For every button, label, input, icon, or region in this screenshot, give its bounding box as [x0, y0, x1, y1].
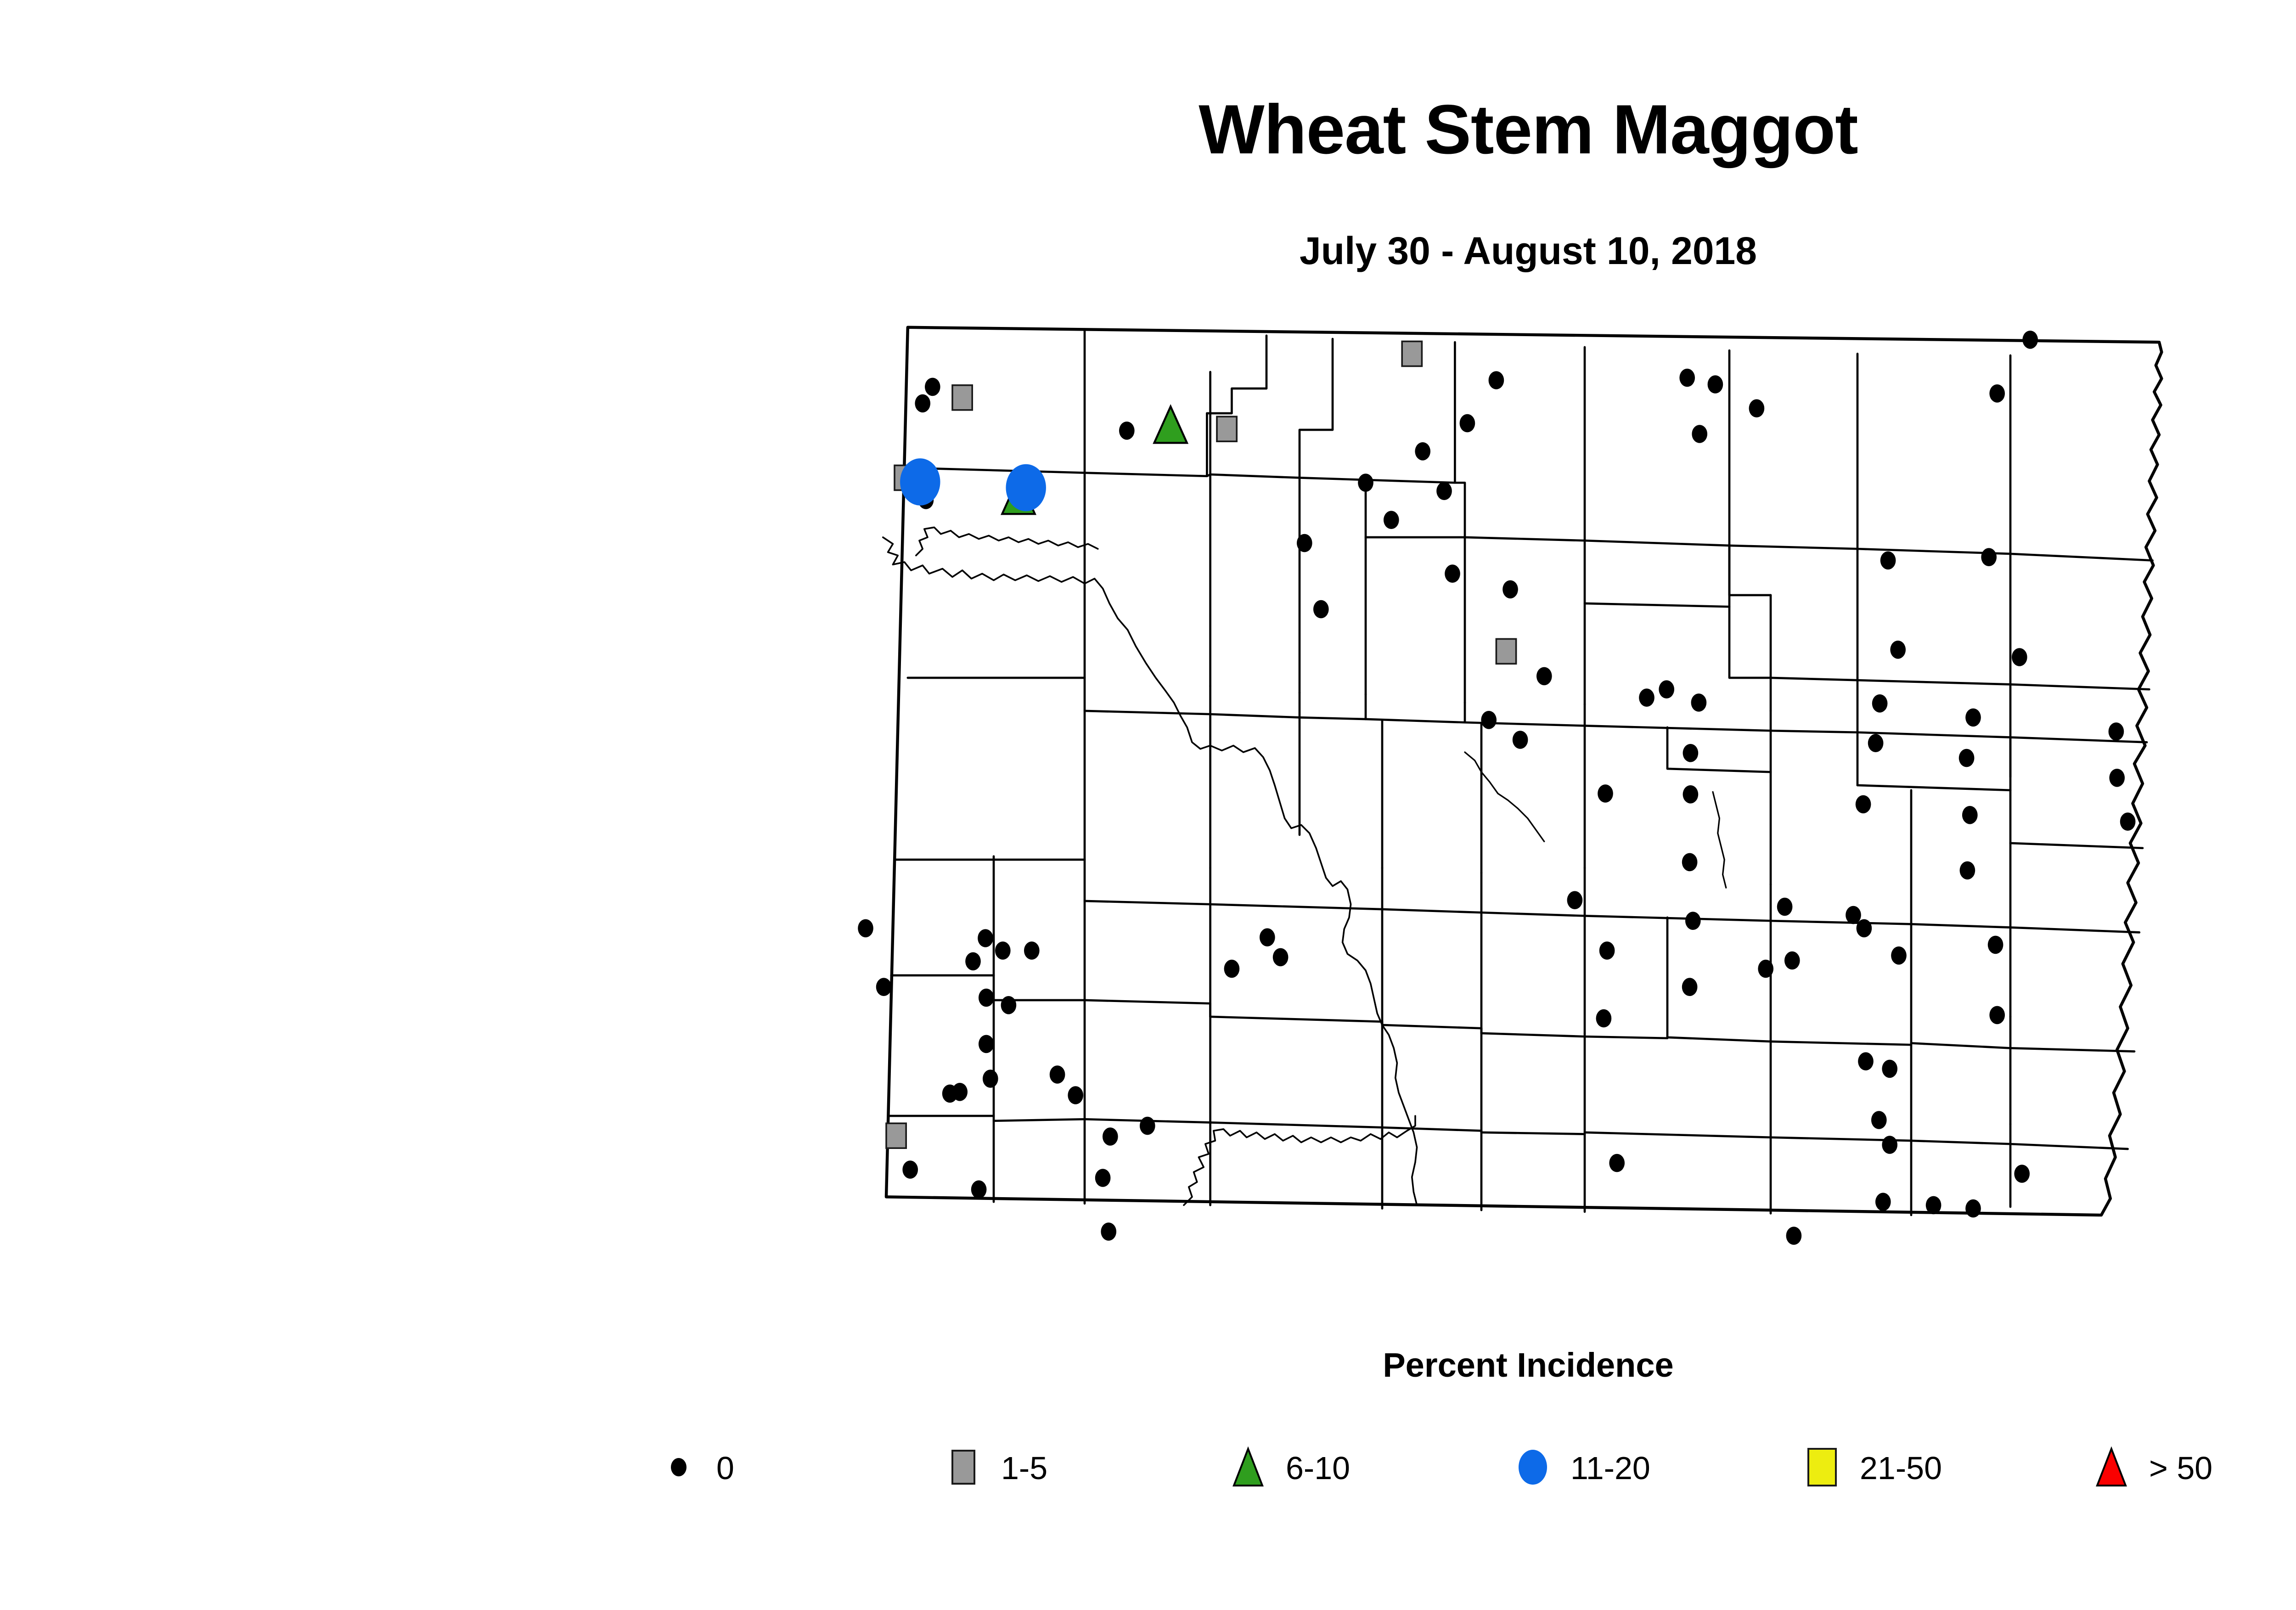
map-marker-0 [1683, 785, 1699, 804]
map-marker-0 [1103, 1127, 1118, 1146]
county-line [1382, 1127, 1481, 1131]
county-line [1585, 1033, 1667, 1038]
map-marker-0 [1598, 784, 1613, 803]
county-line [1771, 678, 1857, 732]
map-marker-0 [1858, 1052, 1874, 1070]
county-line [1667, 1037, 1771, 1041]
map-page: Wheat Stem Maggot July 30 - August 10, 2… [0, 0, 2296, 1610]
map-marker-0 [902, 1160, 918, 1179]
county-line [1729, 354, 1857, 549]
map-marker-0 [2120, 812, 2136, 831]
map-marker-0 [1445, 564, 1460, 583]
map-marker-0 [1988, 936, 2003, 954]
county-line [1210, 1122, 1382, 1127]
county-line [1207, 336, 1266, 413]
map-marker-0 [1882, 1060, 1897, 1078]
map-marker-0 [925, 378, 940, 396]
map-marker-0 [995, 941, 1011, 960]
map-marker-1-5 [1402, 341, 1422, 366]
river-tributary [1184, 1116, 1415, 1205]
map-marker-0 [952, 1083, 968, 1101]
map-marker-0 [1358, 473, 1373, 492]
map-marker-0 [1260, 928, 1275, 946]
map-marker-0 [965, 952, 981, 971]
map-marker-0 [1313, 600, 1329, 619]
legend-triangle-icon [2093, 1446, 2129, 1488]
map-marker-0 [1001, 996, 1017, 1014]
county-line [908, 331, 1085, 473]
map-marker-0 [971, 1180, 987, 1199]
county-line [1210, 692, 1300, 717]
county-line [2010, 737, 2147, 743]
map-marker-0 [1777, 898, 1793, 916]
map-marker-0 [1384, 511, 1399, 529]
map-marker-0 [1857, 919, 1872, 938]
north-dakota-map [716, 289, 2296, 1281]
county-line [1911, 1043, 2010, 1048]
county-line [1300, 478, 1455, 483]
map-marker-0 [1101, 1222, 1116, 1241]
legend-item-label: 1-5 [1001, 1452, 1047, 1484]
county-line [1585, 711, 1771, 731]
map-marker-1-5 [1496, 639, 1516, 664]
county-line [1455, 483, 1585, 540]
map-marker-0 [1749, 399, 1765, 417]
legend-triangle-icon [1230, 1446, 1266, 1488]
map-marker-0 [1481, 711, 1497, 729]
map-marker-0 [1981, 548, 1997, 566]
county-line [1911, 1141, 2010, 1144]
map-marker-0 [1926, 1196, 1941, 1215]
county-line [1771, 921, 1911, 924]
map-marker-0 [979, 1035, 994, 1053]
map-marker-0 [2022, 331, 2038, 349]
map-svg [716, 289, 2296, 1281]
map-marker-1-5 [952, 385, 972, 410]
map-marker-0 [1679, 369, 1695, 387]
map-marker-0 [1989, 384, 2005, 403]
county-line [1729, 546, 1771, 595]
map-marker-0 [1683, 744, 1699, 762]
legend-item-0[interactable]: 0 [657, 1433, 734, 1502]
county-line [1085, 372, 1210, 476]
map-marker-11-20 [1006, 465, 1046, 511]
map-marker-0 [2012, 648, 2027, 666]
map-marker-0 [1659, 680, 1674, 698]
map-marker-0 [1962, 806, 1978, 824]
county-line [896, 860, 1210, 904]
map-marker-0 [1846, 906, 1861, 924]
map-marker-0 [1965, 1199, 1981, 1218]
map-marker-0 [1882, 1136, 1897, 1154]
county-line [2010, 684, 2149, 689]
map-marker-0 [858, 919, 873, 938]
map-county-layer [883, 327, 2162, 1215]
river-james [1713, 792, 1726, 888]
county-line [1585, 350, 1729, 546]
map-marker-0 [876, 978, 892, 996]
county-line [1481, 1132, 1585, 1134]
map-marker-0 [1140, 1117, 1155, 1135]
legend-item-1-5[interactable]: 1-5 [941, 1433, 1047, 1502]
map-marker-0 [915, 394, 930, 413]
legend-circle-icon [1519, 1450, 1547, 1485]
map-marker-0 [2014, 1165, 2030, 1183]
county-line [2010, 1144, 2128, 1149]
county-line [2010, 928, 2139, 933]
legend-item-6-10[interactable]: 6-10 [1226, 1433, 1350, 1502]
missouri-river [883, 537, 1417, 1205]
map-marker-0 [1068, 1086, 1083, 1104]
county-line [1300, 694, 1366, 719]
legend-title: Percent Incidence [0, 1345, 2296, 1385]
county-line [1210, 339, 1333, 478]
map-marker-0 [1119, 422, 1135, 440]
map-marker-0 [2109, 722, 2124, 741]
map-marker-0 [1872, 694, 1888, 713]
county-line [889, 1116, 1085, 1121]
map-marker-0 [1095, 1169, 1111, 1187]
county-line [908, 678, 1210, 714]
map-marker-0 [983, 1070, 998, 1088]
map-marker-0 [2109, 769, 2125, 787]
page-subtitle: July 30 - August 10, 2018 [0, 230, 2296, 272]
map-marker-0 [1891, 946, 1907, 965]
county-line [1729, 546, 1771, 711]
county-line [1210, 1017, 1382, 1025]
county-line [2010, 843, 2143, 848]
map-marker-0 [1599, 941, 1615, 960]
map-marker-0 [1758, 960, 1773, 978]
county-line [1382, 873, 1481, 912]
map-marker-0 [1536, 667, 1552, 686]
map-marker-0 [1297, 534, 1312, 552]
map-marker-0 [1415, 442, 1430, 461]
map-marker-0 [1436, 482, 1452, 500]
map-marker-0 [1685, 912, 1701, 930]
legend-item-21-50[interactable]: 21-50 [1800, 1433, 1942, 1502]
page-title: Wheat Stem Maggot [0, 92, 2296, 167]
map-marker-0 [1871, 1111, 1887, 1129]
map-marker-0 [1224, 960, 1240, 978]
map-marker-0 [1596, 1009, 1612, 1028]
legend-square-icon [1807, 1448, 1837, 1486]
map-marker-0 [1692, 425, 1707, 443]
map-marker-0 [1868, 734, 1884, 752]
legend-item-label: > 50 [2149, 1452, 2212, 1484]
map-marker-0 [1880, 552, 1896, 570]
map-marker-0 [1965, 709, 1981, 727]
county-line [1481, 868, 1585, 916]
legend: 01-56-1011-2021-50> 50 [657, 1433, 2296, 1520]
map-marker-0 [1708, 375, 1723, 394]
map-marker-0 [1273, 948, 1289, 967]
map-marker-0 [1513, 731, 1528, 749]
map-marker-0 [1890, 641, 1906, 659]
legend-circle-icon [671, 1458, 687, 1476]
legend-item-11-20[interactable]: 11-20 [1511, 1433, 1650, 1502]
county-line [1382, 1025, 1481, 1033]
map-marker-0 [1567, 891, 1583, 909]
county-line [1857, 785, 2010, 790]
map-marker-11-20 [900, 459, 940, 505]
county-line [1585, 1132, 1771, 1137]
map-marker-0 [1682, 853, 1698, 872]
map-marker-0 [1691, 693, 1707, 712]
state-outline [886, 327, 2161, 1215]
legend-item-50[interactable]: > 50 [2089, 1433, 2212, 1502]
county-line [1366, 703, 1465, 722]
map-marker-0 [978, 929, 993, 947]
map-marker-0 [1609, 1154, 1625, 1172]
map-marker-0 [1050, 1065, 1065, 1084]
county-line [1210, 868, 1382, 909]
map-marker-0 [1024, 941, 1040, 960]
map-marker-0 [1503, 580, 1518, 599]
county-line [1585, 884, 1771, 921]
map-marker-0 [979, 989, 994, 1007]
map-marker-0 [1682, 978, 1698, 996]
map-marker-0 [1959, 749, 1975, 767]
river-sheyenne [1465, 752, 1544, 841]
county-line [1771, 678, 2010, 684]
map-marker-0 [1786, 1227, 1802, 1245]
county-line [1585, 603, 1729, 607]
legend-item-label: 0 [716, 1452, 734, 1484]
river-branch-nw [916, 527, 1098, 555]
map-marker-1-5 [1217, 417, 1237, 441]
map-marker-0 [1989, 1006, 2005, 1025]
map-marker-0 [1784, 951, 1800, 970]
legend-item-label: 21-50 [1860, 1452, 1942, 1484]
legend-item-label: 6-10 [1286, 1452, 1350, 1484]
map-marker-0 [1856, 795, 1871, 814]
legend-square-icon [951, 1450, 975, 1485]
legend-item-label: 11-20 [1570, 1452, 1650, 1484]
map-marker-0 [1875, 1193, 1891, 1211]
county-line [2010, 554, 2153, 560]
county-line [1481, 1033, 1585, 1036]
map-marker-0 [1460, 414, 1475, 433]
county-line [1085, 1000, 1210, 1017]
map-marker-0 [1489, 371, 1504, 389]
map-marker-0 [1960, 861, 1975, 880]
map-marker-1-5 [886, 1123, 906, 1148]
map-marker-0 [1639, 688, 1654, 707]
map-marker-6-10 [1154, 406, 1187, 443]
county-line [1911, 924, 2010, 927]
county-line [1771, 1041, 1911, 1045]
county-line [1857, 355, 2010, 554]
county-line [1667, 727, 1771, 772]
